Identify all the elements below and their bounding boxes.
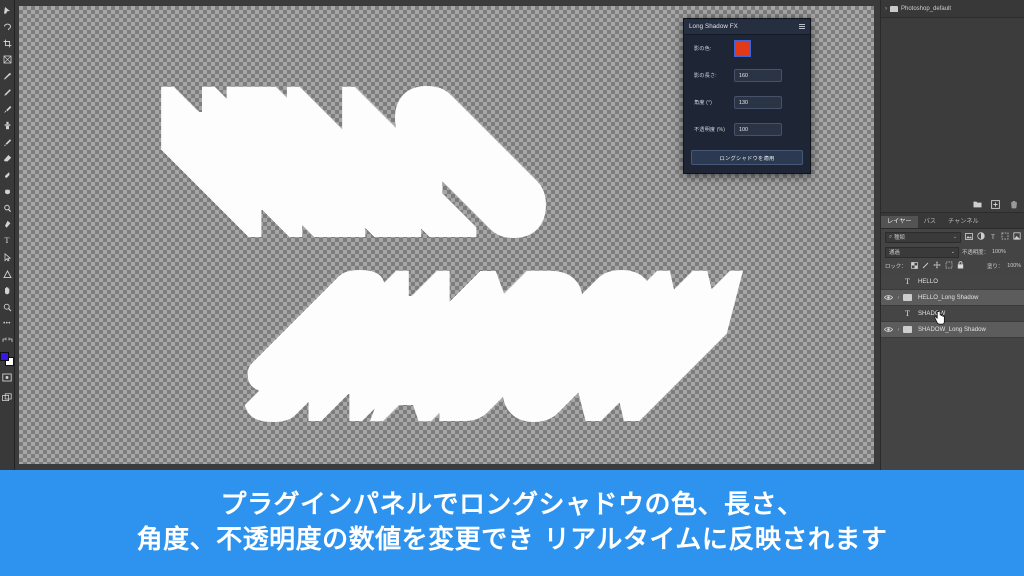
- layers-panel-tabs: レイヤー パス チャンネル: [881, 213, 1024, 229]
- lasso-tool[interactable]: [1, 19, 14, 36]
- caption-line-2: 角度、不透明度の数値を変更でき リアルタイムに反映されます: [137, 525, 888, 557]
- more-tools-button[interactable]: •••: [1, 316, 14, 333]
- apply-long-shadow-button[interactable]: ロングシャドウを適用: [691, 150, 803, 165]
- layer-filter-select[interactable]: ⌕ 種類 ⌄: [885, 232, 961, 243]
- blend-mode-select[interactable]: 通過 ⌄: [885, 247, 959, 258]
- layer-filter-row: ⌕ 種類 ⌄ T: [881, 229, 1024, 245]
- history-brush-tool[interactable]: [1, 134, 14, 151]
- shadow-angle-label: 角度 (°): [694, 99, 734, 106]
- layer-list: T HELLO › HELLO_Long Shadow T SHADOW: [881, 274, 1024, 338]
- new-folder-icon[interactable]: [973, 200, 982, 209]
- lock-artboard-icon[interactable]: [945, 261, 953, 271]
- path-selection-tool[interactable]: [1, 250, 14, 267]
- lock-image-icon[interactable]: [922, 262, 929, 271]
- plugin-menu-icon[interactable]: [799, 24, 805, 29]
- lock-row: ロック： 塗り： 100%: [881, 259, 1024, 273]
- layer-name: HELLO: [918, 279, 938, 285]
- eyedropper-tool[interactable]: [1, 68, 14, 85]
- hand-tool[interactable]: [1, 283, 14, 300]
- blend-mode-value: 通過: [889, 248, 900, 256]
- filter-shape-icon[interactable]: [1001, 232, 1009, 242]
- edit-toolbar-button[interactable]: [1, 332, 14, 349]
- lock-label: ロック：: [885, 262, 907, 270]
- layer-name: SHADOW: [918, 311, 945, 317]
- shadow-length-label: 影の長さ:: [694, 72, 734, 79]
- shadow-angle-value: 130: [739, 100, 748, 106]
- shadow-length-row: 影の長さ: 160: [684, 62, 810, 89]
- hello-text: [155, 68, 462, 170]
- tools-panel: T •••: [0, 0, 15, 470]
- long-shadow-fx-panel[interactable]: Long Shadow FX 影の色: 影の長さ: 160 角度 (°) 130…: [683, 18, 811, 174]
- layer-expand-toggle[interactable]: ›: [895, 295, 902, 301]
- layer-thumbnail: [902, 293, 913, 303]
- tab-paths[interactable]: パス: [918, 216, 942, 228]
- quick-mask-icon[interactable]: [1, 370, 14, 387]
- shadow-opacity-input[interactable]: 100: [734, 123, 782, 136]
- layer-visibility-toggle[interactable]: [881, 294, 895, 301]
- lock-transparent-icon[interactable]: [911, 262, 918, 271]
- layers-panel: レイヤー パス チャンネル ⌕ 種類 ⌄ T 通過 ⌄: [881, 212, 1024, 471]
- foreground-background-color[interactable]: [0, 352, 14, 366]
- shadow-angle-row: 角度 (°) 130: [684, 89, 810, 116]
- shadow-length-input[interactable]: 160: [734, 69, 782, 82]
- shadow-length-value: 160: [739, 73, 748, 79]
- plugin-title-label: Long Shadow FX: [689, 23, 738, 30]
- dodge-tool[interactable]: [1, 200, 14, 217]
- caption-line-1: プラグインパネルでロングシャドウの色、長さ、: [220, 490, 803, 522]
- shadow-color-label: 影の色:: [694, 45, 734, 52]
- opacity-label: 不透明度：: [962, 248, 989, 256]
- shadow-color-row: 影の色:: [684, 35, 810, 62]
- brush-tool[interactable]: [1, 101, 14, 118]
- photoshop-window: T ••• HELLO: [0, 0, 1024, 576]
- breadcrumb-label: Photoshop_default: [901, 6, 951, 12]
- dock-empty-area: [881, 18, 1024, 196]
- plugin-tab-header[interactable]: Long Shadow FX: [684, 19, 810, 35]
- opacity-value[interactable]: 100%: [992, 249, 1006, 255]
- pen-tool[interactable]: [1, 217, 14, 234]
- fill-value[interactable]: 100%: [1007, 263, 1021, 269]
- clone-stamp-tool[interactable]: [1, 118, 14, 135]
- filter-type-icon[interactable]: T: [989, 234, 997, 241]
- search-icon: ⌕: [889, 234, 892, 241]
- fill-label: 塗り：: [987, 262, 1003, 270]
- filter-adjustment-icon[interactable]: [977, 232, 985, 242]
- shadow-text: [329, 252, 743, 354]
- workspace-breadcrumb[interactable]: › Photoshop_default: [881, 0, 1024, 18]
- shadow-angle-input[interactable]: 130: [734, 96, 782, 109]
- filter-smart-icon[interactable]: [1013, 232, 1021, 242]
- layer-filter-value: 種類: [894, 233, 905, 241]
- caption-bar: プラグインパネルでロングシャドウの色、長さ、 角度、不透明度の数値を変更でき リ…: [0, 470, 1024, 576]
- shadow-opacity-value: 100: [739, 127, 748, 133]
- delete-layer-icon[interactable]: [1009, 200, 1018, 209]
- gradient-tool[interactable]: [1, 167, 14, 184]
- layer-name: HELLO_Long Shadow: [918, 295, 979, 301]
- panel-footer-icons: [881, 196, 1024, 212]
- type-tool[interactable]: T: [1, 233, 14, 250]
- layer-expand-toggle[interactable]: ›: [895, 327, 902, 333]
- table-row[interactable]: T HELLO: [881, 274, 1024, 290]
- zoom-tool[interactable]: [1, 299, 14, 316]
- screen-mode-icon[interactable]: [1, 389, 14, 406]
- blend-chevron-down-icon[interactable]: ⌄: [951, 249, 955, 255]
- layer-thumbnail: T: [902, 309, 913, 319]
- shadow-artwork[interactable]: SHADOW: [209, 264, 809, 444]
- blur-tool[interactable]: [1, 184, 14, 201]
- folder-icon: [890, 6, 898, 12]
- lock-all-icon[interactable]: [957, 261, 964, 271]
- lock-position-icon[interactable]: [933, 261, 941, 271]
- frame-tool[interactable]: [1, 52, 14, 69]
- eraser-tool[interactable]: [1, 151, 14, 168]
- tab-channels[interactable]: チャンネル: [942, 216, 985, 228]
- layer-thumbnail: [902, 325, 913, 335]
- shadow-opacity-row: 不透明度 (%) 100: [684, 116, 810, 143]
- table-row[interactable]: T SHADOW: [881, 306, 1024, 322]
- table-row[interactable]: › SHADOW_Long Shadow: [881, 322, 1024, 338]
- layer-name: SHADOW_Long Shadow: [918, 327, 986, 333]
- layer-visibility-toggle[interactable]: [881, 326, 895, 333]
- table-row[interactable]: › HELLO_Long Shadow: [881, 290, 1024, 306]
- shadow-color-swatch[interactable]: [734, 40, 751, 57]
- shape-tool[interactable]: [1, 266, 14, 283]
- filter-pixel-icon[interactable]: [965, 233, 973, 242]
- tab-layers[interactable]: レイヤー: [881, 216, 918, 228]
- layer-thumbnail: T: [902, 277, 913, 287]
- crop-tool[interactable]: [1, 35, 14, 52]
- right-dock: › Photoshop_default レイヤー パス チャンネル ⌕ 種類 ⌄: [880, 0, 1024, 470]
- foreground-color-swatch[interactable]: [0, 352, 9, 361]
- blend-mode-row: 通過 ⌄ 不透明度： 100%: [881, 245, 1024, 259]
- chevron-down-icon[interactable]: ⌄: [953, 234, 957, 240]
- hello-artwork[interactable]: HELLO: [155, 84, 575, 244]
- apply-button-label: ロングシャドウを適用: [720, 154, 775, 162]
- new-layer-icon[interactable]: [991, 200, 1000, 209]
- healing-brush-tool[interactable]: [1, 85, 14, 102]
- move-tool[interactable]: [1, 2, 14, 19]
- shadow-opacity-label: 不透明度 (%): [694, 126, 734, 133]
- breadcrumb-chevron-icon[interactable]: ›: [885, 6, 887, 12]
